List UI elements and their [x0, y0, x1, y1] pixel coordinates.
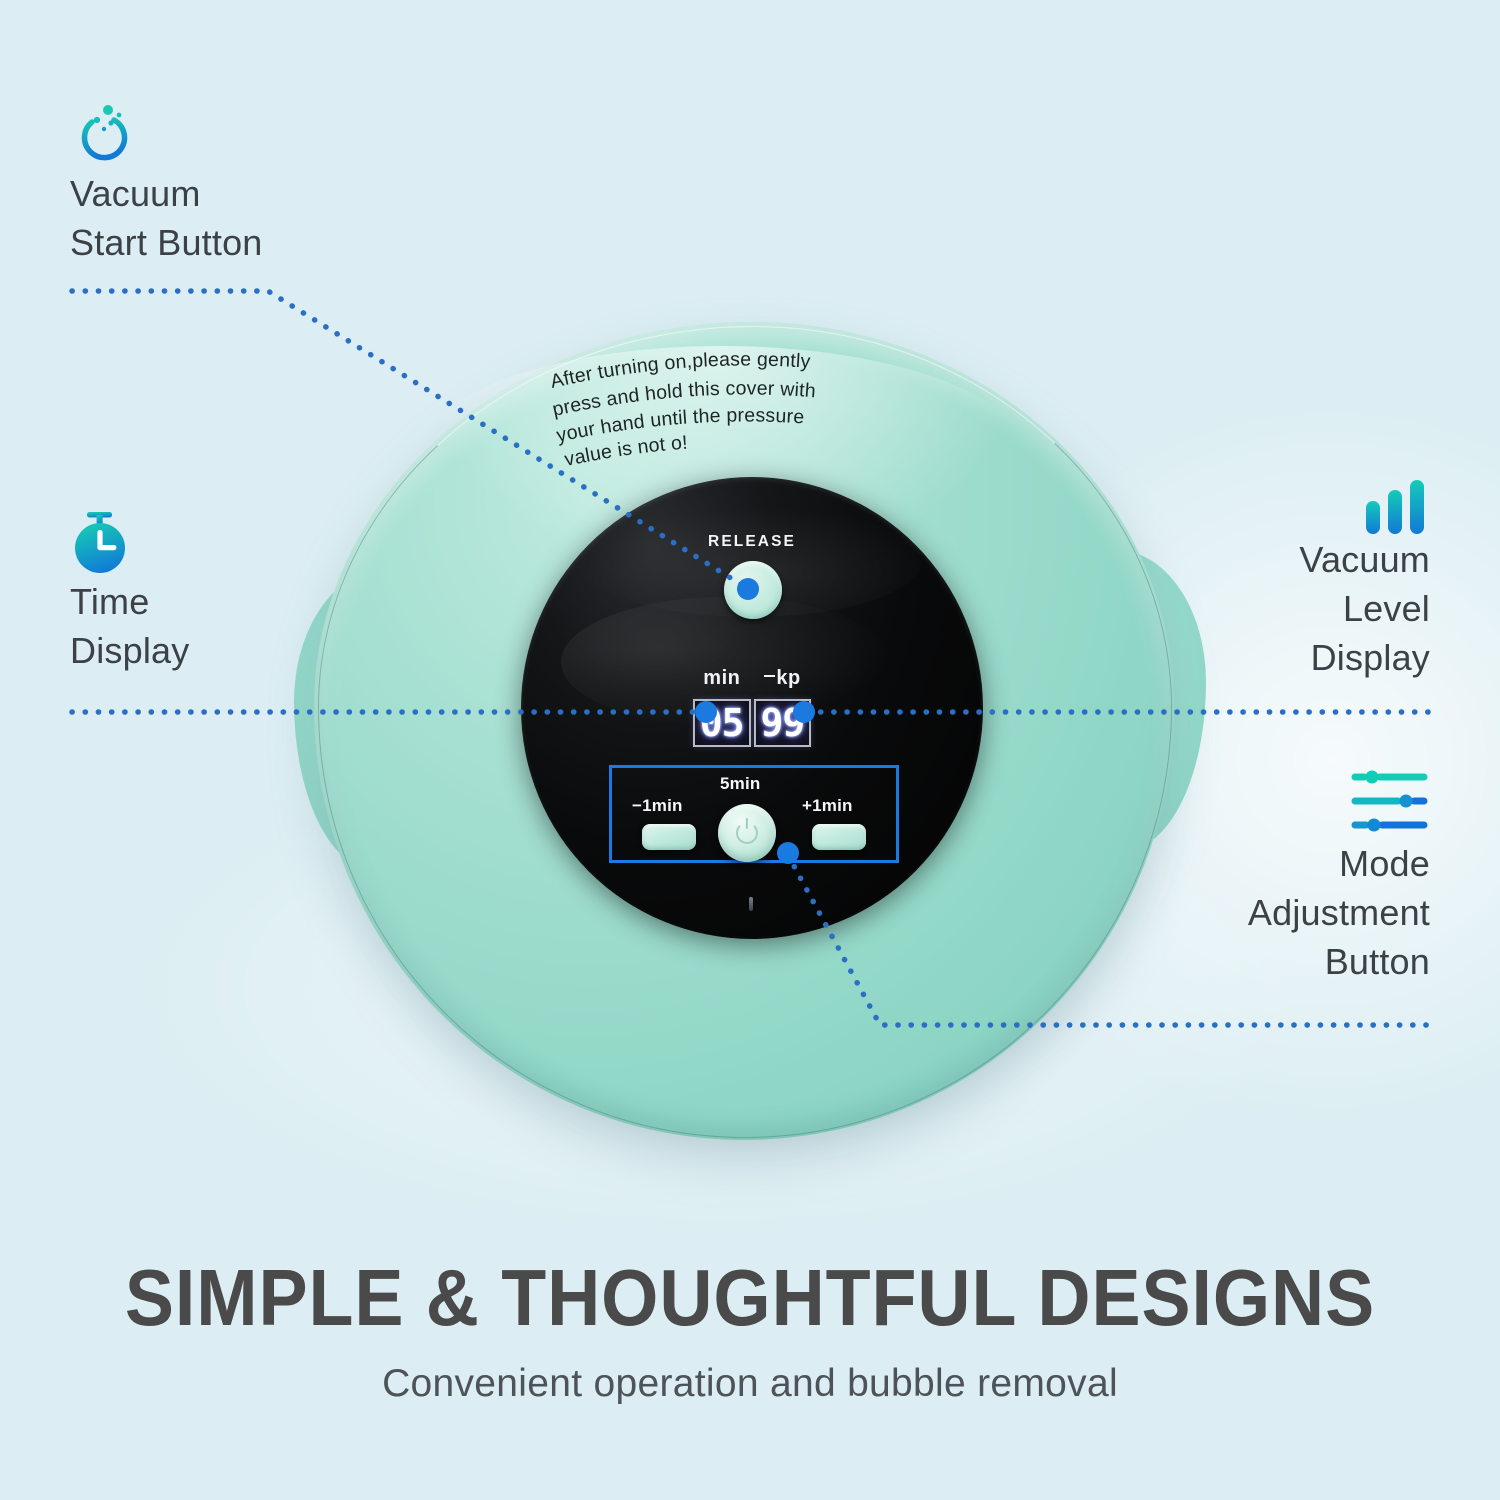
bubble-ring-icon: [70, 104, 136, 170]
callout-mode-adjustment-label: Mode Adjustment Button: [1248, 840, 1430, 987]
preset-time-label: 5min: [720, 774, 760, 794]
callout-mode-adjustment-button: Mode Adjustment Button: [1248, 768, 1430, 987]
callout-line: Mode: [1248, 840, 1430, 889]
vent-slot: [749, 897, 753, 911]
control-panel-disc: RELEASE minkp 05 99 −1min 5min +1min: [521, 477, 983, 939]
bar-chart-icon: [1360, 478, 1430, 536]
footer-subheadline: Convenient operation and bubble removal: [0, 1362, 1500, 1406]
minus-sign-icon: [764, 675, 775, 677]
power-button[interactable]: [718, 804, 776, 862]
led-minutes-value: 05: [699, 704, 745, 742]
led-panel-minutes: 05: [693, 699, 751, 747]
callout-line: Vacuum: [1299, 536, 1430, 585]
led-pressure-value: 99: [760, 704, 806, 742]
callout-line: Time: [70, 578, 189, 627]
stopwatch-icon: [70, 508, 136, 578]
infographic-stage: After turning on,please gently press and…: [0, 0, 1500, 1500]
sliders-icon: [1350, 768, 1430, 840]
led-display: 05 99: [521, 699, 983, 747]
callout-vacuum-start-button: Vacuum Start Button: [70, 104, 263, 268]
callout-line: Adjustment: [1248, 889, 1430, 938]
callout-vacuum-level-display: Vacuum Level Display: [1299, 478, 1430, 683]
unit-minutes: min: [703, 667, 740, 690]
mode-adjustment-highlight-box: −1min 5min +1min: [609, 765, 899, 863]
led-panel-pressure: 99: [754, 699, 812, 747]
callout-line: Vacuum: [70, 170, 263, 219]
callout-line: Button: [1248, 938, 1430, 987]
release-button[interactable]: [724, 561, 782, 619]
callout-line: Display: [70, 627, 189, 676]
callout-vacuum-level-label: Vacuum Level Display: [1299, 536, 1430, 683]
display-units: minkp: [521, 667, 983, 690]
increase-time-label: +1min: [802, 796, 853, 816]
increase-time-button[interactable]: [812, 824, 866, 850]
callout-line: Start Button: [70, 219, 263, 268]
power-icon: [736, 822, 758, 844]
decrease-time-label: −1min: [632, 796, 683, 816]
callout-time-display-label: Time Display: [70, 578, 189, 676]
release-label: RELEASE: [521, 533, 983, 551]
decrease-time-button[interactable]: [642, 824, 696, 850]
callout-line: Display: [1299, 634, 1430, 683]
unit-pressure: kp: [764, 667, 800, 690]
callout-time-display: Time Display: [70, 508, 189, 676]
callout-line: Level: [1299, 585, 1430, 634]
footer-headline: SIMPLE & THOUGHTFUL DESIGNS: [60, 1252, 1440, 1344]
callout-vacuum-start-label: Vacuum Start Button: [70, 170, 263, 268]
